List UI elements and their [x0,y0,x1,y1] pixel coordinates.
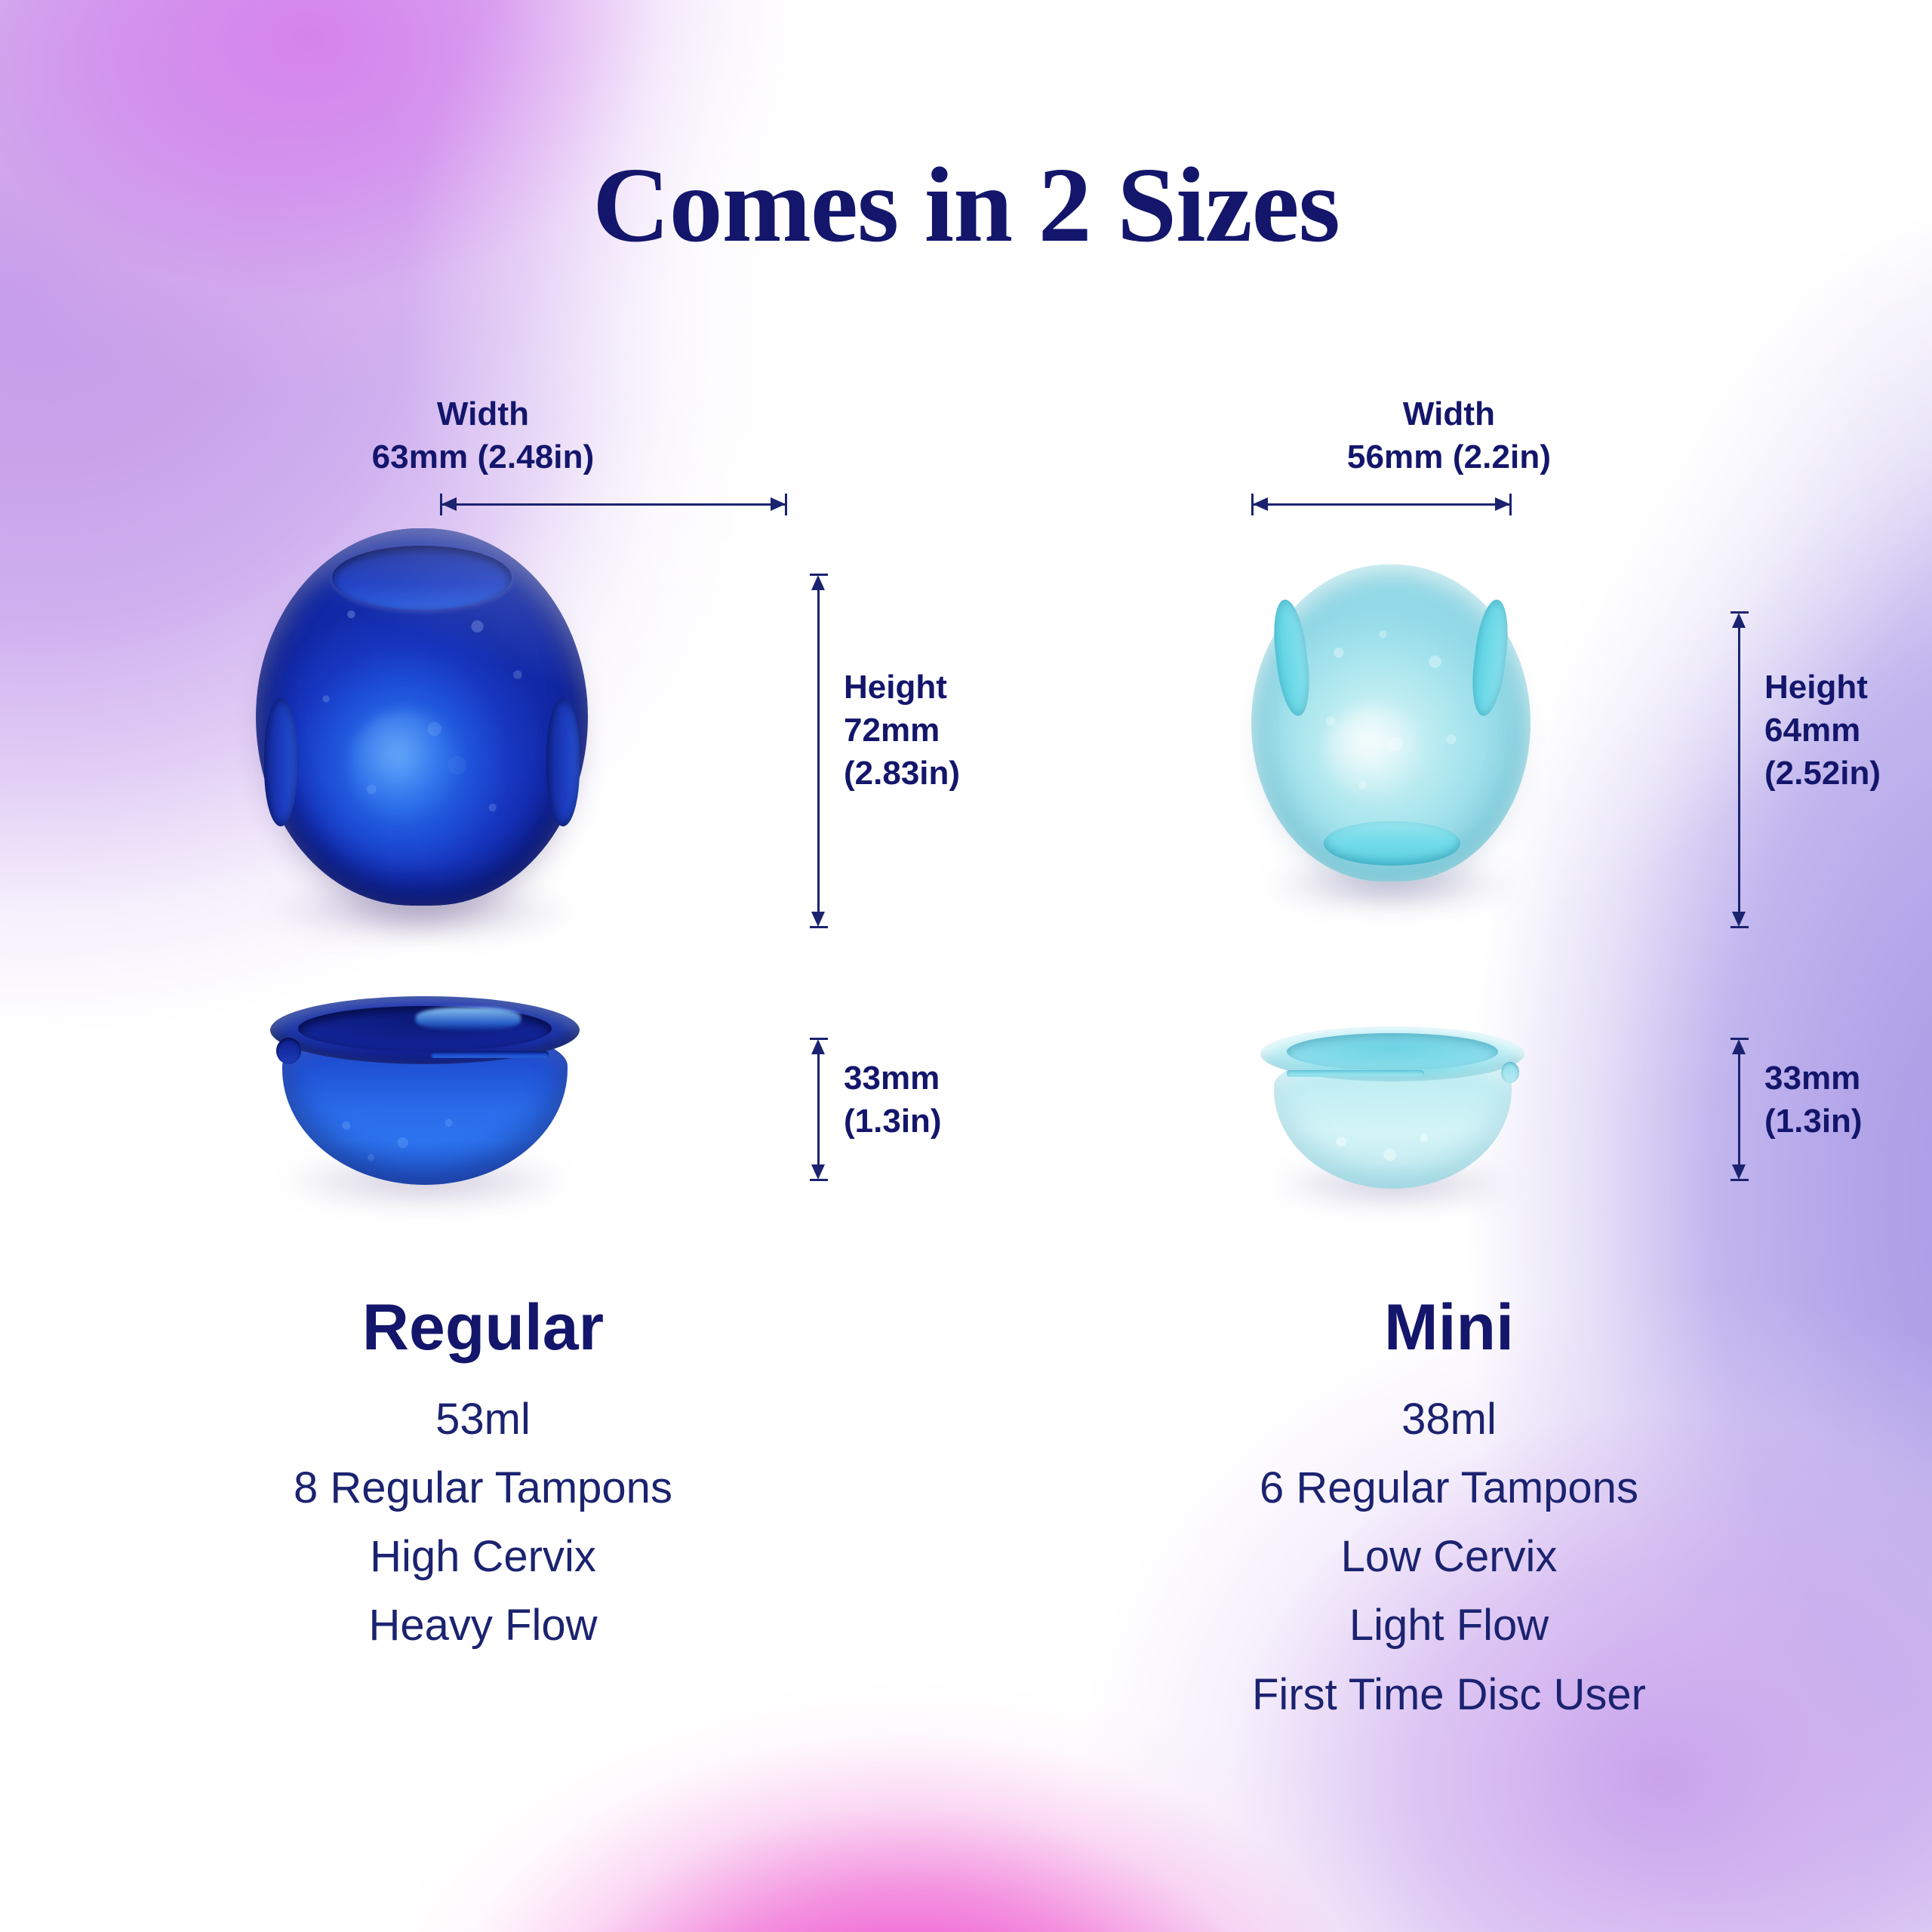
height-arrow-mini [1730,611,1749,928]
arrow-head-up-icon [811,575,825,590]
depth-label-regular: 33mm (1.3in) [844,1057,942,1143]
arrow-line [1738,1045,1740,1174]
product-column-regular: Width 63mm (2.48in) [45,392,921,1872]
arrow-head-right-icon [771,497,786,511]
spec-item: 53ml [45,1385,921,1454]
bowl-tab [276,1038,301,1064]
spec-item: 38ml [1011,1385,1887,1454]
arrow-line [1251,503,1512,506]
spec-item: Heavy Flow [45,1591,921,1660]
infographic-page: Comes in 2 Sizes Width 63mm (2.48in) [0,0,1932,1932]
spec-item: High Cervix [45,1522,921,1591]
spec-block-mini: Mini 38ml 6 Regular Tampons Low Cervix L… [1011,1291,1887,1729]
depth-arrow-regular [809,1038,829,1181]
bowl-emboss-pattern [311,1106,488,1172]
bowl-highlight [416,1008,521,1030]
spec-item: 8 Regular Tampons [45,1454,921,1522]
depth-arrow-mini [1730,1038,1749,1181]
spec-item: Light Flow [1011,1591,1887,1660]
disc-highlight [1324,704,1424,799]
height-label-mini: Height 64mm (2.52in) [1764,666,1881,795]
bowl-stage-mini [1011,1026,1887,1245]
spec-block-regular: Regular 53ml 8 Regular Tampons High Cerv… [45,1291,921,1660]
width-dimension-mini: Width 56mm (2.2in) [1011,392,1887,478]
depth-label-mini: 33mm (1.3in) [1764,1057,1863,1143]
arrow-head-right-icon [1495,497,1510,511]
arrow-head-left-icon [441,497,457,511]
product-image-regular-disc-top [256,528,588,906]
width-arrow-mini [1251,489,1512,519]
bowl-slot [431,1051,549,1058]
arrow-head-up-icon [1732,613,1746,628]
bowl-emboss-pattern [1307,1123,1450,1177]
spec-item: Low Cervix [1011,1522,1887,1591]
arrow-head-down-icon [1732,912,1746,927]
disc-notch-right [1468,598,1512,718]
product-image-regular-disc-side [270,996,580,1185]
disc-groove-bottom [1324,821,1460,866]
width-label-mini: Width 56mm (2.2in) [1011,392,1887,478]
bowl-tab [1501,1062,1520,1083]
disc-rim-sheen [256,528,588,906]
width-dimension-regular: Width 63mm (2.48in) [45,392,921,478]
arrow-line [817,581,820,921]
page-title: Comes in 2 Sizes [0,148,1932,262]
product-name-regular: Regular [45,1291,921,1365]
spec-item: 6 Regular Tampons [1011,1454,1887,1522]
height-label-regular: Height 72mm (2.83in) [844,666,960,795]
arrow-head-left-icon [1253,497,1268,511]
arrow-head-up-icon [811,1039,825,1054]
disc-stage-mini [1011,565,1887,927]
arrow-head-up-icon [1732,1039,1746,1054]
arrow-head-down-icon [811,1164,825,1180]
bowl-cavity [1287,1033,1498,1070]
arrow-head-down-icon [1732,1164,1746,1180]
product-image-mini-disc-top [1251,565,1531,881]
disc-stage-regular [45,528,921,951]
product-name-mini: Mini [1011,1291,1887,1365]
width-arrow-regular [440,489,787,519]
bowl-slot [1287,1070,1424,1077]
height-arrow-regular [809,574,829,928]
product-image-mini-disc-side [1260,1026,1524,1189]
arrow-line [1738,619,1740,921]
arrow-head-down-icon [811,912,825,927]
spec-item: First Time Disc User [1011,1660,1887,1729]
arrow-line [817,1045,820,1174]
bowl-stage-regular [45,996,921,1245]
arrow-line [440,503,787,506]
product-column-mini: Width 56mm (2.2in) [1011,392,1887,1872]
width-label-regular: Width 63mm (2.48in) [45,392,921,478]
